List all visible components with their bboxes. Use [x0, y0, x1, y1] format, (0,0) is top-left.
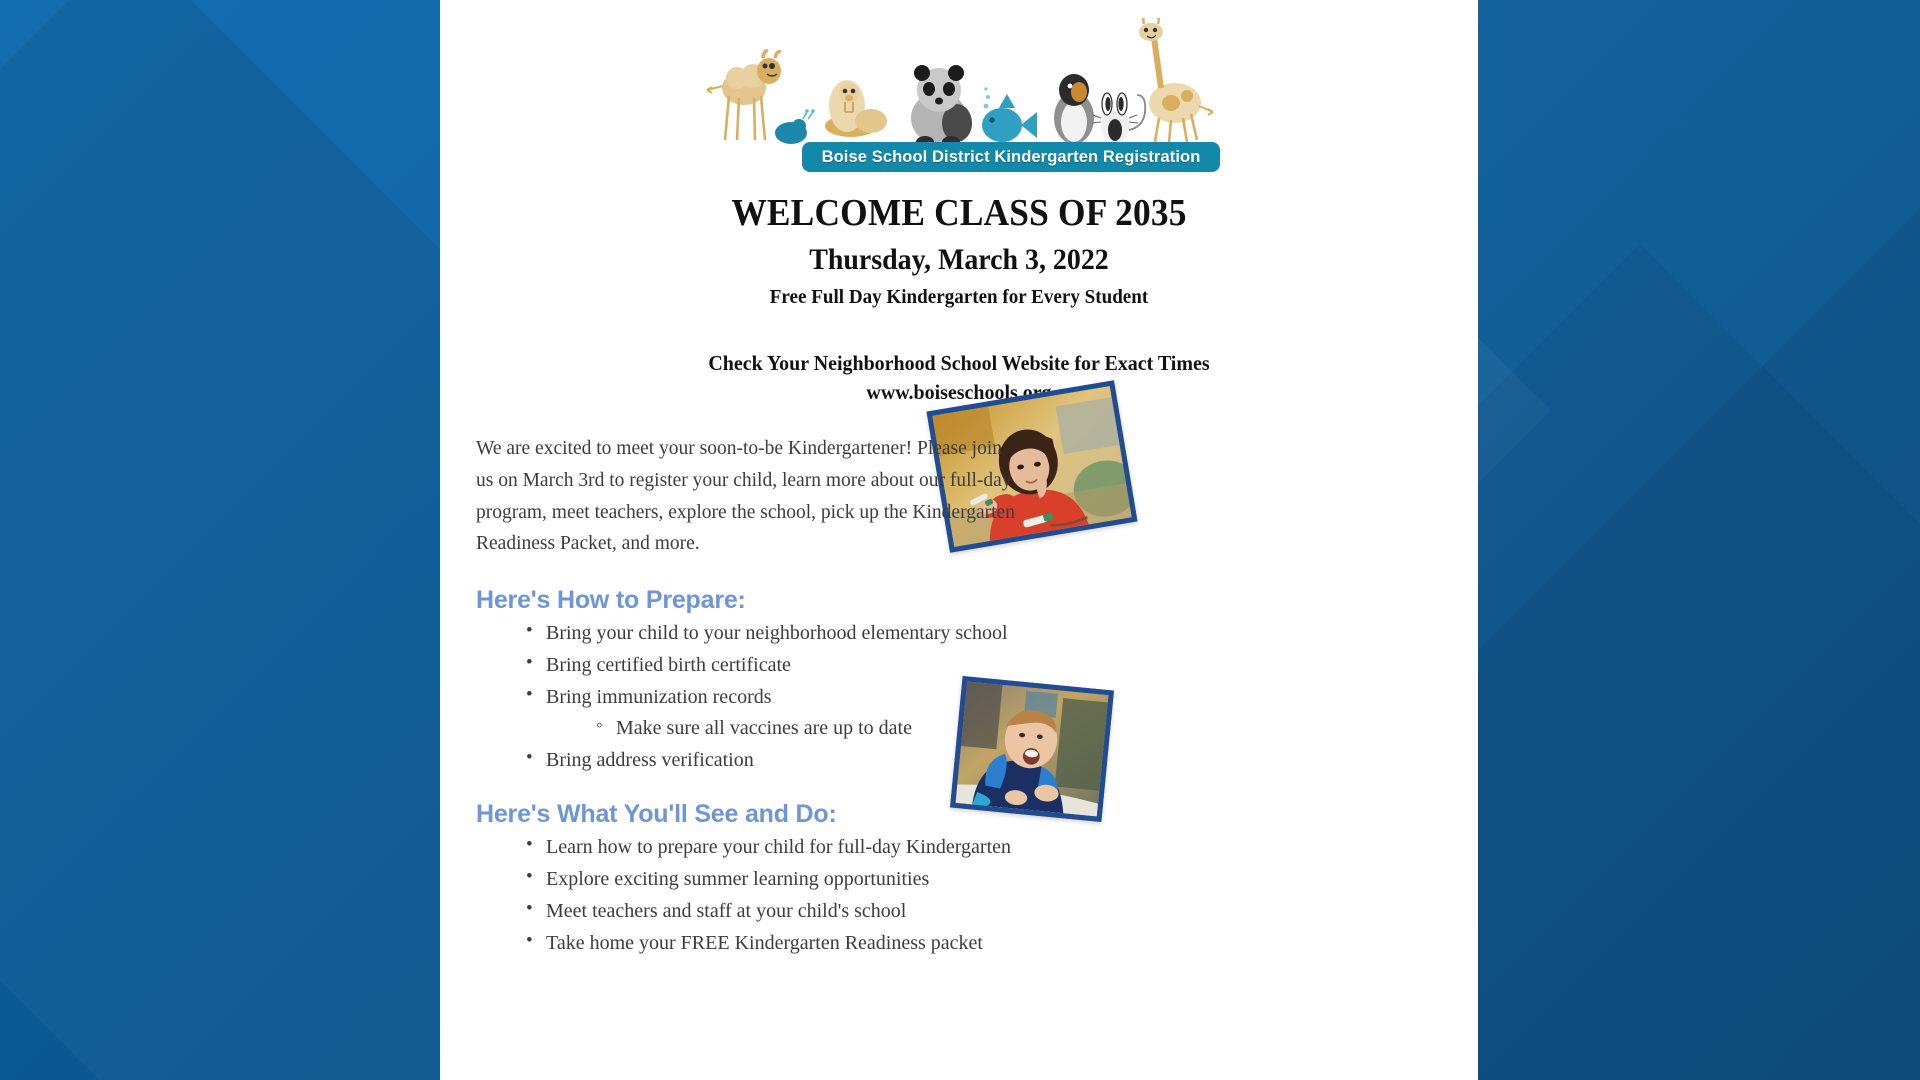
immunization-sub-list: Make sure all vaccines are up to date [546, 714, 1026, 742]
section-heading-see-and-do: Here's What You'll See and Do: [476, 800, 1000, 829]
camel-icon [707, 51, 781, 140]
walrus-icon [825, 80, 887, 137]
snail-icon [775, 109, 815, 144]
fish-icon [982, 87, 1037, 142]
subtitle-heading: Free Full Day Kindergarten for Every Stu… [476, 286, 1441, 309]
list-item: Explore exciting summer learning opportu… [526, 865, 1026, 893]
check-website-block: Check Your Neighborhood School Website f… [466, 349, 1452, 407]
list-item: Learn how to prepare your child for full… [526, 833, 1026, 861]
section-heading-prepare: Here's How to Prepare: [476, 586, 1000, 615]
intro-paragraph: We are excited to meet your soon-to-be K… [476, 433, 1016, 560]
list-item: Meet teachers and staff at your child's … [526, 897, 1026, 925]
list-item: Bring certified birth certificate [526, 651, 1026, 679]
prepare-bullet-list: Bring your child to your neighborhood el… [476, 619, 1000, 774]
event-date-heading: Thursday, March 3, 2022 [476, 243, 1441, 277]
see-and-do-bullet-list: Learn how to prepare your child for full… [476, 833, 1000, 957]
giraffe-icon [1139, 18, 1213, 142]
logo-banner-label: Boise School District Kindergarten Regis… [802, 142, 1220, 172]
list-item: Bring immunization records Make sure all… [526, 683, 1026, 742]
document-page: Boise School District Kindergarten Regis… [440, 0, 1478, 1080]
mouse-icon [1092, 93, 1145, 143]
logo-block: Boise School District Kindergarten Regis… [699, 18, 1219, 173]
website-url[interactable]: www.boiseschools.org [466, 378, 1452, 407]
body-column: We are excited to meet your soon-to-be K… [440, 433, 1000, 957]
slide-viewer: Boise School District Kindergarten Regis… [0, 0, 1920, 1080]
list-item: Take home your FREE Kindergarten Readine… [526, 929, 1026, 957]
panda-icon [911, 65, 972, 148]
check-website-line: Check Your Neighborhood School Website f… [708, 351, 1209, 375]
sub-list-item: Make sure all vaccines are up to date [596, 714, 1026, 742]
list-item: Bring your child to your neighborhood el… [526, 619, 1026, 647]
animal-illustration-group [699, 18, 1219, 148]
welcome-heading: WELCOME CLASS OF 2035 [476, 191, 1441, 235]
list-item-label: Bring immunization records [546, 686, 772, 708]
penguin-icon [1054, 74, 1094, 148]
list-item: Bring address verification [526, 746, 1026, 774]
